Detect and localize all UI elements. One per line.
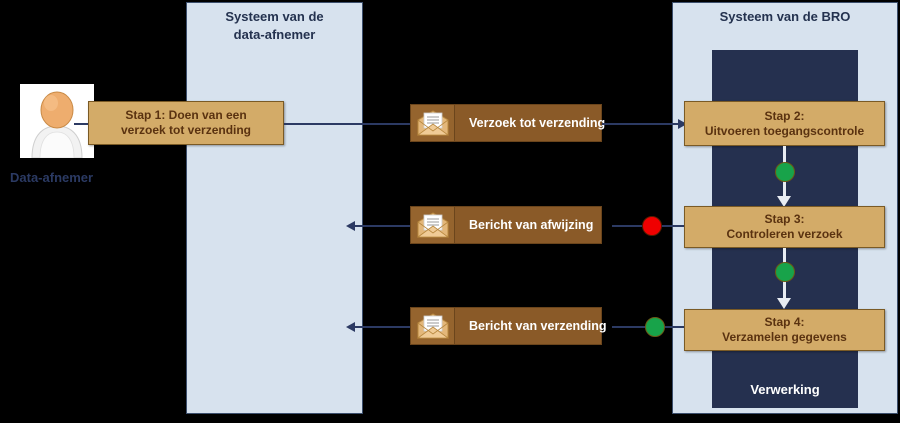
node-green-stap2-stap3 bbox=[775, 162, 795, 182]
lane-data-afnemer bbox=[186, 2, 363, 414]
connector-msg2-afnemer bbox=[355, 225, 410, 227]
actor-label: Data-afnemer bbox=[10, 170, 134, 183]
step-line2: Verzamelen gegevens bbox=[722, 330, 847, 345]
open-envelope-icon bbox=[411, 105, 455, 141]
connector-stap1-msg1 bbox=[284, 123, 410, 125]
lane-title-line1: Systeem van de bbox=[186, 8, 363, 26]
open-envelope-icon bbox=[411, 207, 455, 243]
step-line2: Uitvoeren toegangscontrole bbox=[705, 124, 864, 139]
message-box-verzoek-tot-verzending: Verzoek tot verzending bbox=[410, 104, 602, 142]
actor-avatar bbox=[20, 84, 94, 158]
step-box-stap2: Stap 2: Uitvoeren toegangscontrole bbox=[684, 101, 885, 146]
lane-data-afnemer-title: Systeem van de data-afnemer bbox=[186, 8, 363, 44]
step-line1: Stap 1: Doen van een bbox=[125, 108, 246, 123]
arrowhead-into-stap4 bbox=[777, 298, 791, 309]
message-label: Bericht van afwijzing bbox=[455, 218, 601, 232]
node-green-stap3-stap4 bbox=[775, 262, 795, 282]
message-box-bericht-van-verzending: Bericht van verzending bbox=[410, 307, 602, 345]
diagram-canvas: Systeem van de data-afnemer Systeem van … bbox=[0, 0, 900, 423]
arrowhead-into-afnemer-row3 bbox=[346, 322, 355, 332]
step-box-stap4: Stap 4: Verzamelen gegevens bbox=[684, 309, 885, 351]
step-line1: Stap 4: bbox=[764, 315, 804, 330]
message-label: Verzoek tot verzending bbox=[455, 116, 605, 130]
connector-msg1-stap2 bbox=[602, 123, 680, 125]
step-box-stap3: Stap 3: Controleren verzoek bbox=[684, 206, 885, 248]
step-line2: Controleren verzoek bbox=[726, 227, 842, 242]
node-green-verzending bbox=[645, 317, 665, 337]
verwerking-label: Verwerking bbox=[712, 382, 858, 397]
message-label: Bericht van verzending bbox=[455, 319, 607, 333]
step-line1: Stap 2: bbox=[764, 109, 804, 124]
node-red-afwijzing bbox=[642, 216, 662, 236]
step-box-stap1: Stap 1: Doen van een verzoek tot verzend… bbox=[88, 101, 284, 145]
open-envelope-icon bbox=[411, 308, 455, 344]
connector-msg3-afnemer bbox=[355, 326, 410, 328]
lane-bro-title: Systeem van de BRO bbox=[672, 8, 898, 26]
lane-title-line2: data-afnemer bbox=[186, 26, 363, 44]
message-box-bericht-van-afwijzing: Bericht van afwijzing bbox=[410, 206, 602, 244]
arrowhead-into-afnemer-row2 bbox=[346, 221, 355, 231]
step-line1: Stap 3: bbox=[764, 212, 804, 227]
user-person-icon bbox=[20, 84, 94, 158]
lane-title-line1: Systeem van de BRO bbox=[672, 8, 898, 26]
step-line2: verzoek tot verzending bbox=[121, 123, 251, 138]
